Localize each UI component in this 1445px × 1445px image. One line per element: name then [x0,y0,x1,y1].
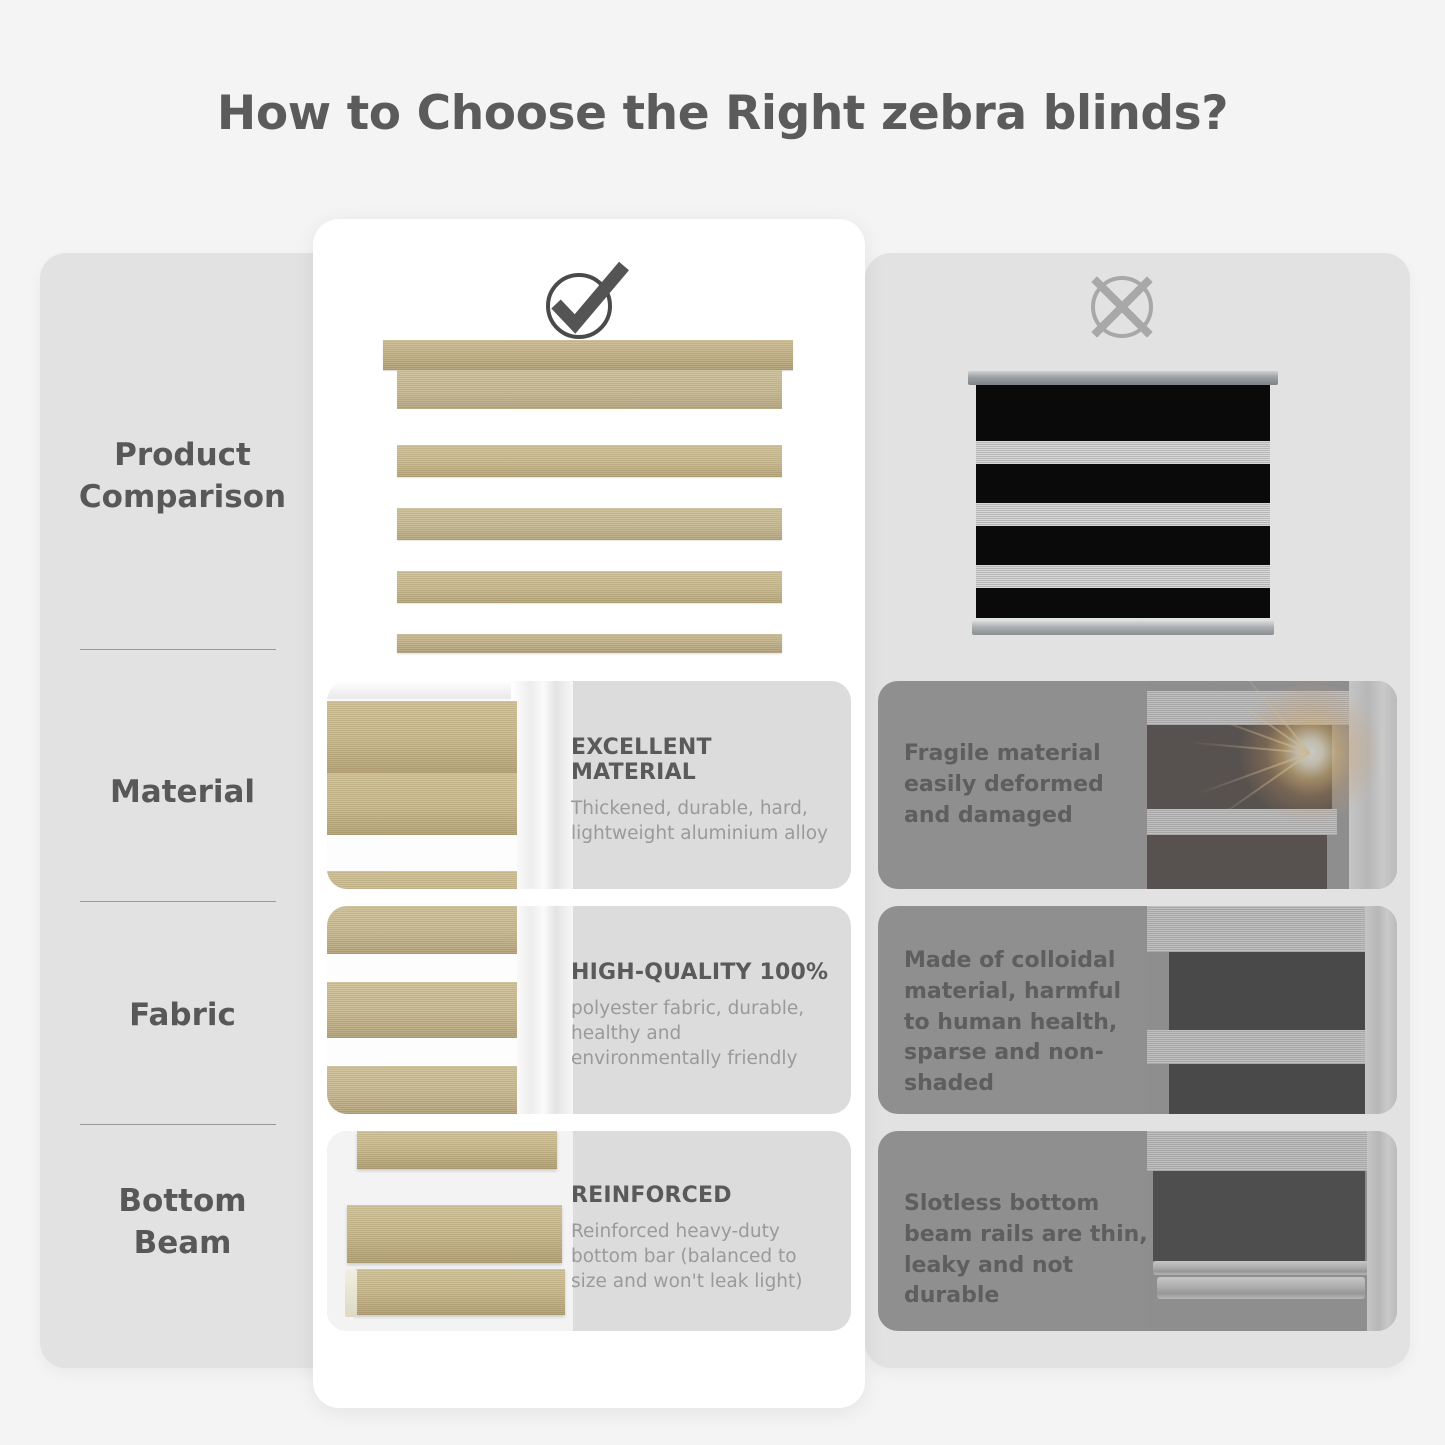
feature-image-good-material [327,681,573,889]
row-label-bottom-beam: Bottom Beam [55,1181,310,1265]
feature-card-bad-bottom-beam: Slotless bottom beam rails are thin, lea… [878,1131,1397,1331]
row-label-material: Material [55,772,310,814]
feature-text-bad-fabric: Made of colloidal material, harmful to h… [904,946,1154,1100]
feature-card-good-fabric: HIGH-QUALITY 100% polyester fabric, dura… [327,906,851,1114]
product-image-tan-zebra-blind [383,340,793,665]
row-label-line1: Product [55,435,310,477]
feature-image-bad-material [1147,681,1397,889]
feature-text-good-bottom-beam: REINFORCED Reinforced heavy-duty bottom … [571,1183,833,1295]
row-label-column: Product Comparison Material Fabric Botto… [55,253,310,1368]
feature-text-bad-bottom-beam: Slotless bottom beam rails are thin, lea… [904,1189,1154,1312]
feature-body: Reinforced heavy-duty bottom bar (balanc… [571,1220,833,1295]
row-label-line2: Comparison [55,477,310,519]
page-title: How to Choose the Right zebra blinds? [0,86,1445,141]
feature-image-bad-fabric [1147,906,1397,1114]
row-label-product-comparison: Product Comparison [55,435,310,519]
feature-heading: REINFORCED [571,1183,833,1208]
product-image-black-zebra-blind [968,371,1278,643]
feature-image-good-fabric [327,906,573,1114]
feature-image-bad-bottom-beam [1147,1131,1397,1331]
feature-text-good-fabric: HIGH-QUALITY 100% polyester fabric, dura… [571,960,833,1072]
feature-body: polyester fabric, durable, healthy and e… [571,997,833,1072]
feature-card-bad-fabric: Made of colloidal material, harmful to h… [878,906,1397,1114]
feature-heading: EXCELLENT MATERIAL [571,735,833,785]
row-divider-3 [80,1124,276,1125]
feature-text-bad-material: Fragile material easily deformed and dam… [904,739,1154,831]
feature-card-bad-material: Fragile material easily deformed and dam… [878,681,1397,889]
feature-text-good-material: EXCELLENT MATERIAL Thickened, durable, h… [571,735,833,847]
check-circle-icon [539,258,631,348]
feature-card-good-material: EXCELLENT MATERIAL Thickened, durable, h… [327,681,851,889]
feature-image-good-bottom-beam [327,1131,573,1331]
row-divider-2 [80,901,276,902]
row-label-fabric: Fabric [55,995,310,1037]
row-label-line1: Material [55,772,310,814]
cross-circle-icon [1085,270,1159,348]
feature-card-good-bottom-beam: REINFORCED Reinforced heavy-duty bottom … [327,1131,851,1331]
feature-body: Thickened, durable, hard, lightweight al… [571,797,833,847]
feature-heading: HIGH-QUALITY 100% [571,960,833,985]
row-divider-1 [80,649,276,650]
row-label-line1: Bottom [55,1181,310,1223]
row-label-line1: Fabric [55,995,310,1037]
row-label-line2: Beam [55,1223,310,1265]
